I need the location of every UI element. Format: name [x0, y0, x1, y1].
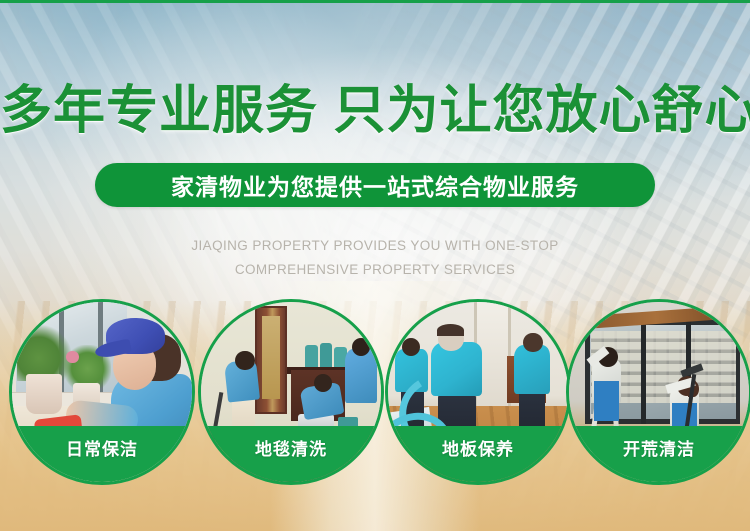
service-photo-frame: 地板保养: [385, 299, 571, 485]
english-subtitle: JIAQING PROPERTY PROVIDES YOU WITH ONE-S…: [75, 234, 675, 282]
page-title: 多年专业服务 只为让您放心舒心: [0, 82, 750, 140]
tagline-pill: 家清物业为您提供一站式综合物业服务: [95, 163, 655, 207]
service-item-rough-cleaning[interactable]: 开荒清洁: [566, 299, 750, 485]
service-item-carpet-cleaning[interactable]: 地毯清洗: [198, 299, 384, 485]
service-item-daily-cleaning[interactable]: 日常保洁: [9, 299, 195, 485]
english-subtitle-line-2: COMPREHENSIVE PROPERTY SERVICES: [75, 258, 675, 282]
service-label-band: 日常保洁: [12, 426, 192, 482]
service-photo-frame: 地毯清洗: [198, 299, 384, 485]
service-item-floor-maintenance[interactable]: 地板保养: [385, 299, 571, 485]
service-label-text: 地板保养: [442, 435, 514, 460]
english-subtitle-line-1: JIAQING PROPERTY PROVIDES YOU WITH ONE-S…: [75, 234, 675, 258]
service-label-band: 地板保养: [388, 426, 568, 482]
top-accent-rule: [0, 0, 750, 3]
service-circle-row: 日常保洁: [0, 299, 750, 489]
tagline-text: 家清物业为您提供一站式综合物业服务: [171, 168, 579, 202]
service-label-text: 开荒清洁: [623, 435, 695, 460]
service-label-text: 日常保洁: [66, 435, 138, 460]
service-label-band: 地毯清洗: [201, 426, 381, 482]
service-label-band: 开荒清洁: [569, 426, 749, 482]
service-photo-frame: 开荒清洁: [566, 299, 750, 485]
promotional-banner: 多年专业服务 只为让您放心舒心 家清物业为您提供一站式综合物业服务 JIAQIN…: [0, 0, 750, 531]
service-photo-frame: 日常保洁: [9, 299, 195, 485]
service-label-text: 地毯清洗: [255, 435, 327, 460]
